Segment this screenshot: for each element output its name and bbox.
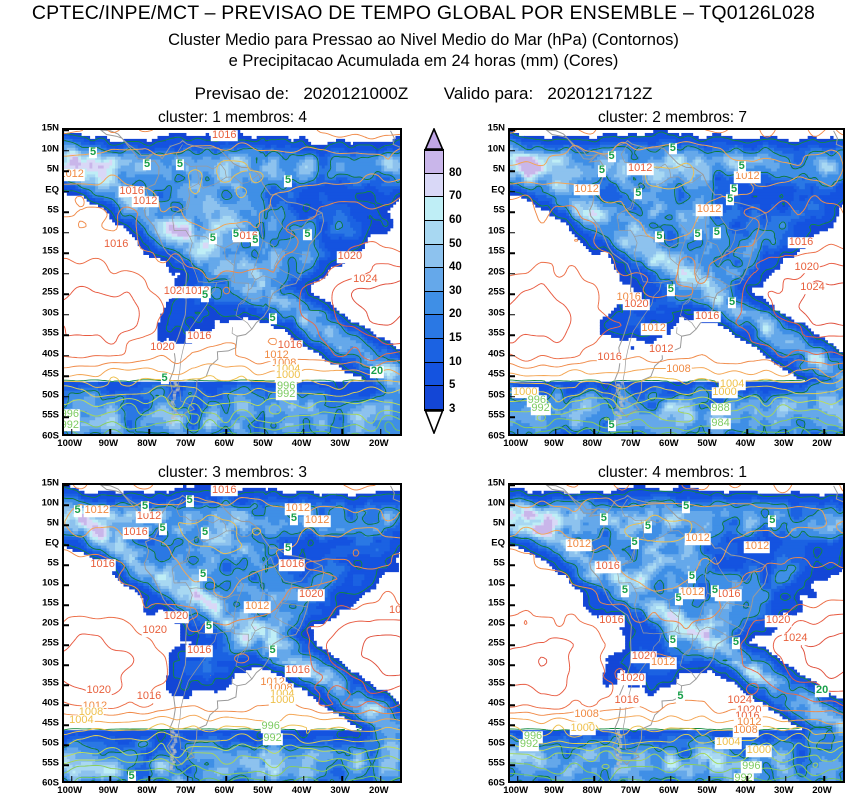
precip-contour-label: 5 — [284, 543, 292, 555]
x-axis-tick — [785, 776, 787, 781]
mslp-contour-label: 1008 — [573, 709, 599, 721]
y-axis-tick — [64, 624, 69, 626]
y-axis-tick — [64, 396, 69, 398]
y-axis-label: 15S — [28, 598, 59, 609]
precip-contour-label: 5 — [205, 621, 213, 633]
y-axis-label: 40S — [28, 698, 59, 709]
y-axis-label: 20S — [28, 618, 59, 629]
precip-contour-label: 5 — [269, 313, 277, 325]
y-axis-tick — [510, 314, 515, 316]
y-axis-tick — [64, 604, 69, 606]
precip-contour-label: 5 — [303, 229, 311, 241]
y-axis-tick — [510, 150, 515, 152]
x-axis-tick — [110, 429, 112, 434]
x-axis-tick — [517, 429, 519, 434]
y-axis-label: 60S — [28, 778, 59, 789]
y-axis-tick — [510, 564, 515, 566]
y-axis-tick — [510, 232, 515, 234]
y-axis-tick — [64, 684, 69, 686]
y-axis-label: 10N — [474, 498, 505, 509]
y-axis-label: 5N — [28, 164, 59, 175]
precip-contour-label: 5 — [209, 233, 217, 245]
y-axis-tick — [510, 191, 515, 193]
precip-contour-label: 5 — [607, 420, 615, 432]
colorbar-tick-label: 3 — [449, 403, 455, 415]
y-axis-label: 20S — [474, 618, 505, 629]
y-axis-tick — [510, 129, 515, 131]
x-axis-label: 20W — [369, 438, 389, 449]
x-axis-label: 100W — [57, 785, 82, 796]
y-axis-tick — [510, 624, 515, 626]
colorbar-band — [424, 221, 444, 245]
mslp-contour-label: 1016 — [103, 239, 129, 251]
y-axis-tick — [64, 211, 69, 213]
precip-contour-label: 5 — [669, 143, 677, 155]
mslp-contour-label: 1016 — [211, 485, 237, 496]
mslp-contour-label: 1016 — [715, 589, 741, 601]
precip-contour-label: 5 — [728, 297, 736, 309]
subtitle-line-1: Cluster Medio para Pressao ao Nivel Medi… — [0, 31, 847, 50]
panel-title-1: cluster: 1 membros: 4 — [60, 109, 405, 127]
mslp-contour-label: 1020 — [765, 615, 791, 627]
colorbar-tick-label: 10 — [449, 356, 462, 368]
x-axis-tick — [555, 429, 557, 434]
y-axis-label: 30S — [28, 307, 59, 318]
colorbar-band — [424, 174, 444, 198]
mslp-contour-label: 1024 — [799, 282, 825, 294]
mslp-contour-label: 996 — [741, 761, 761, 773]
y-axis-tick — [64, 376, 69, 378]
x-axis-label: 80W — [582, 438, 602, 449]
map-panel-cluster-1[interactable]: 1016101210161012101610161020102410201012… — [62, 128, 402, 436]
y-axis-tick — [510, 524, 515, 526]
y-axis-label: 15N — [28, 478, 59, 489]
y-axis-tick — [64, 232, 69, 234]
precip-contour-label: 5 — [732, 637, 740, 649]
x-axis-label: 40W — [292, 785, 312, 796]
y-axis-tick — [510, 704, 515, 706]
colorbar-band — [424, 245, 444, 269]
precip-contour-label: 5 — [621, 585, 629, 597]
y-axis-tick — [64, 744, 69, 746]
forecast-from-value: 2020121000Z — [303, 84, 408, 103]
x-axis-label: 60W — [214, 438, 234, 449]
x-axis-tick — [71, 776, 73, 781]
y-axis-label: 15N — [28, 123, 59, 134]
x-axis-label: 80W — [137, 785, 157, 796]
y-axis-tick — [64, 417, 69, 419]
valid-for-value: 2020121712Z — [547, 84, 652, 103]
y-axis-tick — [510, 544, 515, 546]
mslp-contour-label: 1020 — [298, 589, 324, 601]
y-axis-label: 45S — [28, 369, 59, 380]
y-axis-label: 15S — [28, 246, 59, 257]
mslp-contour-label: 1016 — [788, 237, 814, 249]
mslp-contour-label: 1020 — [142, 625, 168, 637]
y-axis-tick — [64, 704, 69, 706]
mslp-contour-label: 1000 — [570, 723, 596, 735]
colorbar-band — [424, 197, 444, 221]
mslp-contour-label: 1012 — [84, 505, 110, 517]
colorbar-band — [424, 386, 444, 410]
x-axis-tick — [380, 429, 382, 434]
mslp-contour-label: 1012 — [679, 587, 705, 599]
mslp-contour-label: 1016 — [596, 352, 622, 364]
precip-contour-label: 5 — [176, 159, 184, 171]
y-axis-label: 15S — [474, 246, 505, 257]
precipitation-shading — [64, 485, 400, 781]
mslp-contour-label: 1016 — [285, 665, 311, 677]
mslp-contour-label: 1012 — [627, 163, 653, 175]
map-panel-cluster-4[interactable]: 1012101210121016101210161016102010241020… — [508, 483, 845, 783]
mslp-contour-label: 1016 — [186, 645, 212, 657]
mslp-contour-label: 1000 — [746, 745, 772, 757]
y-axis-label: 40S — [474, 698, 505, 709]
x-axis-label: 70W — [621, 438, 641, 449]
mslp-contour-label: 1016 — [279, 559, 305, 571]
forecast-from-label: Previsao de: — [195, 84, 290, 103]
x-axis-tick — [187, 776, 189, 781]
mslp-contour-label: 1012 — [304, 515, 330, 527]
y-axis-tick — [510, 376, 515, 378]
mslp-contour-label: 1012 — [566, 539, 592, 551]
mslp-contour-label: 1016 — [186, 332, 212, 344]
precip-contour-label: 5 — [694, 229, 702, 241]
x-axis-tick — [264, 776, 266, 781]
y-axis-tick — [510, 724, 515, 726]
y-axis-tick — [64, 564, 69, 566]
x-axis-label: 50W — [697, 438, 717, 449]
precip-contour-label: 20 — [815, 685, 829, 697]
x-axis-tick — [594, 776, 596, 781]
x-axis-label: 50W — [253, 438, 273, 449]
precip-contour-label: 5 — [682, 501, 690, 513]
x-axis-label: 40W — [736, 785, 756, 796]
mslp-contour-label: 1020 — [623, 299, 649, 311]
x-axis-tick — [708, 776, 710, 781]
x-axis-tick — [110, 776, 112, 781]
mslp-contour-label: 1012 — [650, 657, 676, 669]
map-plot-area: 1016101210121012101210161016101610201021… — [64, 485, 400, 781]
x-axis-label: 90W — [544, 438, 564, 449]
y-axis-tick — [510, 684, 515, 686]
y-axis-label: 35S — [474, 328, 505, 339]
y-axis-label: 20S — [28, 266, 59, 277]
y-axis-tick — [510, 211, 515, 213]
precip-contour-label: 5 — [676, 691, 684, 703]
mslp-contour-label: 1012 — [696, 204, 722, 216]
x-axis-label: 30W — [774, 438, 794, 449]
map-plot-area: 1012101210121012101610201024101610201016… — [510, 130, 843, 434]
y-axis-label: 5S — [474, 205, 505, 216]
y-axis-label: 30S — [28, 658, 59, 669]
mslp-contour-label: 1008 — [732, 725, 758, 737]
y-axis-tick — [510, 294, 515, 296]
y-axis-tick — [510, 604, 515, 606]
y-axis-label: 35S — [28, 678, 59, 689]
x-axis-tick — [71, 429, 73, 434]
y-axis-tick — [64, 129, 69, 131]
y-axis-label: 55S — [474, 758, 505, 769]
y-axis-label: 10N — [28, 498, 59, 509]
y-axis-tick — [510, 744, 515, 746]
x-axis-label: 90W — [544, 785, 564, 796]
panel-title-2: cluster: 2 membros: 7 — [500, 109, 845, 127]
precip-contour-label: 5 — [201, 291, 209, 303]
y-axis-label: EQ — [28, 184, 59, 195]
mslp-contour-label: 1016 — [598, 615, 624, 627]
y-axis-tick — [510, 252, 515, 254]
mslp-contour-label: 1016 — [122, 527, 148, 539]
precip-contour-label: 5 — [89, 147, 97, 159]
y-axis-label: 5S — [474, 558, 505, 569]
mslp-contour-label: 1012 — [136, 511, 162, 523]
x-axis-label: 100W — [503, 785, 528, 796]
precip-contour-label: 5 — [630, 537, 638, 549]
forecast-time-row: Previsao de: 2020121000Z Valido para: 20… — [0, 84, 847, 104]
mslp-contour-label: 996 — [261, 721, 281, 733]
colorbar-tick-label: 40 — [449, 261, 462, 273]
y-axis-tick — [510, 484, 515, 486]
y-axis-label: EQ — [474, 184, 505, 195]
x-axis-tick — [148, 776, 150, 781]
map-frame: 1012101210121016101210161016102010241020… — [508, 483, 845, 783]
mslp-contour-label: 1020 — [337, 252, 363, 264]
x-axis-tick — [187, 429, 189, 434]
precip-contour-label: 5 — [600, 513, 608, 525]
y-axis-label: 5S — [28, 558, 59, 569]
map-frame: 1016101210161012101610161020102410201012… — [62, 128, 402, 436]
colorbar-tick-label: 70 — [449, 190, 462, 202]
y-axis-tick — [64, 484, 69, 486]
colorbar-under-range-arrow — [424, 410, 444, 434]
x-axis-tick — [341, 429, 343, 434]
y-axis-label: 10S — [28, 225, 59, 236]
x-axis-label: 30W — [774, 785, 794, 796]
mslp-contour-label: 988 — [710, 404, 730, 416]
precip-contour-label: 20 — [370, 367, 384, 379]
y-axis-tick — [64, 335, 69, 337]
mslp-contour-label: 1020 — [619, 673, 645, 685]
precip-contour-label: 5 — [768, 515, 776, 527]
x-axis-tick — [747, 776, 749, 781]
x-axis-tick — [264, 429, 266, 434]
x-axis-label: 20W — [369, 785, 389, 796]
y-axis-tick — [64, 764, 69, 766]
mslp-contour-label: 102 — [388, 605, 400, 617]
colorbar-tick-label: 80 — [449, 167, 462, 179]
y-axis-tick — [64, 150, 69, 152]
valid-for-label: Valido para: — [444, 84, 533, 103]
y-axis-tick — [64, 504, 69, 506]
y-axis-label: 15S — [474, 598, 505, 609]
precip-contour-label: 5 — [199, 569, 207, 581]
map-frame: 1016101210121012101210161016101610201021… — [62, 483, 402, 783]
mslp-contour-label: 1000 — [269, 695, 295, 707]
panel-title-4: cluster: 4 membros: 1 — [500, 464, 845, 482]
mslp-contour-label: 992 — [519, 739, 539, 751]
mslp-contour-label: 1016 — [136, 691, 162, 703]
precip-contour-label: 5 — [674, 593, 682, 605]
precip-contour-label: 5 — [284, 176, 292, 188]
precip-contour-label: 5 — [143, 159, 151, 171]
colorbar-tick-label: 30 — [449, 285, 462, 297]
mslp-contour-label: 1016 — [211, 130, 237, 141]
y-axis-label: EQ — [28, 538, 59, 549]
mslp-contour-label: 1020 — [794, 262, 820, 274]
map-frame: 1012101210121012101610201024101610201016… — [508, 128, 845, 436]
precip-contour-label: 5 — [251, 235, 259, 247]
x-axis-label: 40W — [736, 438, 756, 449]
x-axis-tick — [555, 776, 557, 781]
mslp-contour-label: 1004 — [68, 715, 94, 727]
mslp-contour-label: 1012 — [734, 171, 760, 183]
y-axis-tick — [64, 355, 69, 357]
y-axis-tick — [64, 664, 69, 666]
precip-contour-label: 5 — [669, 635, 677, 647]
y-axis-tick — [510, 355, 515, 357]
y-axis-tick — [64, 170, 69, 172]
y-axis-label: 60S — [474, 431, 505, 442]
y-axis-label: 40S — [474, 348, 505, 359]
x-axis-tick — [148, 429, 150, 434]
x-axis-label: 50W — [253, 785, 273, 796]
y-axis-label: 50S — [28, 389, 59, 400]
y-axis-label: 55S — [28, 758, 59, 769]
x-axis-tick — [380, 776, 382, 781]
precip-contour-label: 5 — [655, 231, 663, 243]
x-axis-tick — [823, 429, 825, 434]
map-panel-cluster-3[interactable]: 1016101210121012101210161016101610201021… — [62, 483, 402, 783]
x-axis-tick — [303, 776, 305, 781]
colorbar-band — [424, 292, 444, 316]
colorbar-tick-label: 15 — [449, 332, 462, 344]
y-axis-tick — [64, 724, 69, 726]
y-axis-label: 45S — [474, 369, 505, 380]
mslp-contour-label: 1016 — [694, 311, 720, 323]
colorbar-tick-label: 60 — [449, 214, 462, 226]
mslp-contour-label: 1016 — [594, 561, 620, 573]
precip-contour-label: 5 — [232, 229, 240, 241]
y-axis-label: 5N — [28, 518, 59, 529]
y-axis-label: 15N — [474, 123, 505, 134]
mslp-contour-label: 1012 — [684, 533, 710, 545]
panel-title-3: cluster: 3 membros: 3 — [60, 464, 405, 482]
precip-contour-label: 5 — [667, 284, 675, 296]
x-axis-tick — [226, 429, 228, 434]
map-plot-area: 1016101210161012101610161020102410201012… — [64, 130, 400, 434]
y-axis-label: 60S — [28, 431, 59, 442]
x-axis-tick — [747, 429, 749, 434]
precip-contour-label: 5 — [711, 585, 719, 597]
mslp-contour-label: 992 — [262, 733, 282, 745]
mslp-contour-label: 1016 — [89, 559, 115, 571]
x-axis-label: 30W — [330, 438, 350, 449]
x-axis-label: 60W — [659, 785, 679, 796]
x-axis-label: 100W — [503, 438, 528, 449]
x-axis-label: 20W — [812, 438, 832, 449]
x-axis-label: 30W — [330, 785, 350, 796]
y-axis-label: 10S — [474, 225, 505, 236]
x-axis-tick — [226, 776, 228, 781]
colorbar-band — [424, 363, 444, 387]
colorbar-top-border — [424, 149, 444, 151]
y-axis-tick — [510, 764, 515, 766]
mslp-contour-label: 1008 — [665, 364, 691, 376]
precip-contour-label: 5 — [186, 495, 194, 507]
mslp-contour-label: 992 — [530, 404, 550, 416]
y-axis-label: 50S — [28, 738, 59, 749]
y-axis-label: 55S — [28, 410, 59, 421]
x-axis-label: 60W — [659, 438, 679, 449]
y-axis-label: 25S — [474, 287, 505, 298]
y-axis-tick — [64, 252, 69, 254]
mslp-contour-label: 992 — [276, 389, 296, 401]
mslp-contour-label: 1012 — [244, 601, 270, 613]
precip-contour-label: 5 — [688, 571, 696, 583]
mslp-contour-label: 992 — [733, 773, 753, 781]
x-axis-label: 80W — [582, 785, 602, 796]
precip-contour-label: 5 — [158, 523, 166, 535]
mslp-contour-label: 1012 — [648, 344, 674, 356]
x-axis-label: 90W — [99, 785, 119, 796]
x-axis-tick — [517, 776, 519, 781]
page-title: CPTEC/INPE/MCT – PREVISAO DE TEMPO GLOBA… — [0, 2, 847, 25]
x-axis-tick — [670, 776, 672, 781]
precip-contour-label: 5 — [644, 521, 652, 533]
colorbar-band — [424, 150, 444, 174]
x-axis-label: 100W — [57, 438, 82, 449]
y-axis-tick — [510, 170, 515, 172]
y-axis-label: 50S — [474, 738, 505, 749]
mslp-contour-label: 1020 — [86, 685, 112, 697]
mslp-contour-label: 1012 — [640, 323, 666, 335]
mslp-contour-label: 1020 — [149, 342, 175, 354]
precip-contour-label: 5 — [634, 188, 642, 200]
y-axis-tick — [64, 294, 69, 296]
y-axis-label: 45S — [28, 718, 59, 729]
x-axis-tick — [341, 776, 343, 781]
x-axis-tick — [632, 776, 634, 781]
map-panel-cluster-2[interactable]: 1012101210121012101610201024101610201016… — [508, 128, 845, 436]
y-axis-label: 25S — [28, 287, 59, 298]
y-axis-label: 30S — [474, 307, 505, 318]
y-axis-label: 10N — [474, 143, 505, 154]
y-axis-label: EQ — [474, 538, 505, 549]
precip-contour-label: 5 — [128, 771, 136, 781]
y-axis-label: 5S — [28, 205, 59, 216]
x-axis-label: 40W — [292, 438, 312, 449]
x-axis-tick — [823, 776, 825, 781]
y-axis-tick — [64, 191, 69, 193]
mslp-contour-label: 1016 — [614, 695, 640, 707]
x-axis-label: 90W — [99, 438, 119, 449]
y-axis-tick — [510, 335, 515, 337]
y-axis-tick — [64, 273, 69, 275]
precip-contour-label: 5 — [160, 373, 168, 385]
colorbar-tick-label: 50 — [449, 238, 462, 250]
precip-contour-label: 5 — [726, 194, 734, 206]
mslp-contour-label: 1012 — [744, 541, 770, 553]
colorbar-tick-label: 20 — [449, 308, 462, 320]
precip-contour-label: 5 — [141, 501, 149, 513]
precip-contour-label: 5 — [713, 227, 721, 239]
mslp-contour-label: 1024 — [352, 274, 378, 286]
x-axis-tick — [594, 429, 596, 434]
y-axis-label: 40S — [28, 348, 59, 359]
y-axis-label: 5N — [474, 164, 505, 175]
y-axis-label: 55S — [474, 410, 505, 421]
